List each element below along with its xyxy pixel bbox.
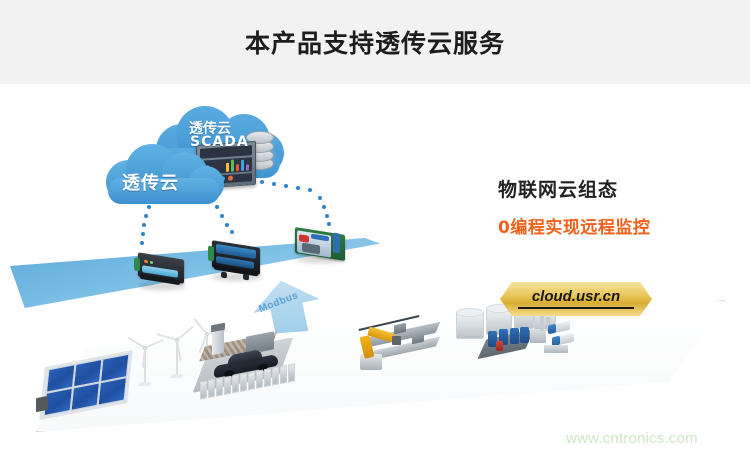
callout-heading: 物联网云组态 xyxy=(498,175,618,202)
slide-canvas: 本产品支持透传云服务 xyxy=(0,0,750,459)
page-title: 本产品支持透传云服务 xyxy=(0,24,750,60)
solar-inverter-box xyxy=(36,396,48,412)
industrial-robot-arm xyxy=(348,322,438,374)
site-watermark: www.cntronics.com xyxy=(566,430,698,447)
device-serial-server-2 xyxy=(207,240,267,284)
cloud-url-underline xyxy=(518,307,634,309)
callout-subheading: 0编程实现远程监控 xyxy=(498,213,650,238)
wind-turbine-2 xyxy=(160,328,194,378)
device-wifi-module xyxy=(292,228,350,266)
wind-turbine-1 xyxy=(128,336,162,384)
header-band: 本产品支持透传云服务 xyxy=(0,0,750,84)
cloud-url-text[interactable]: cloud.usr.cn xyxy=(500,288,652,305)
cloud-front-label: 透传云 xyxy=(122,169,179,195)
device-serial-server-1 xyxy=(134,252,190,292)
